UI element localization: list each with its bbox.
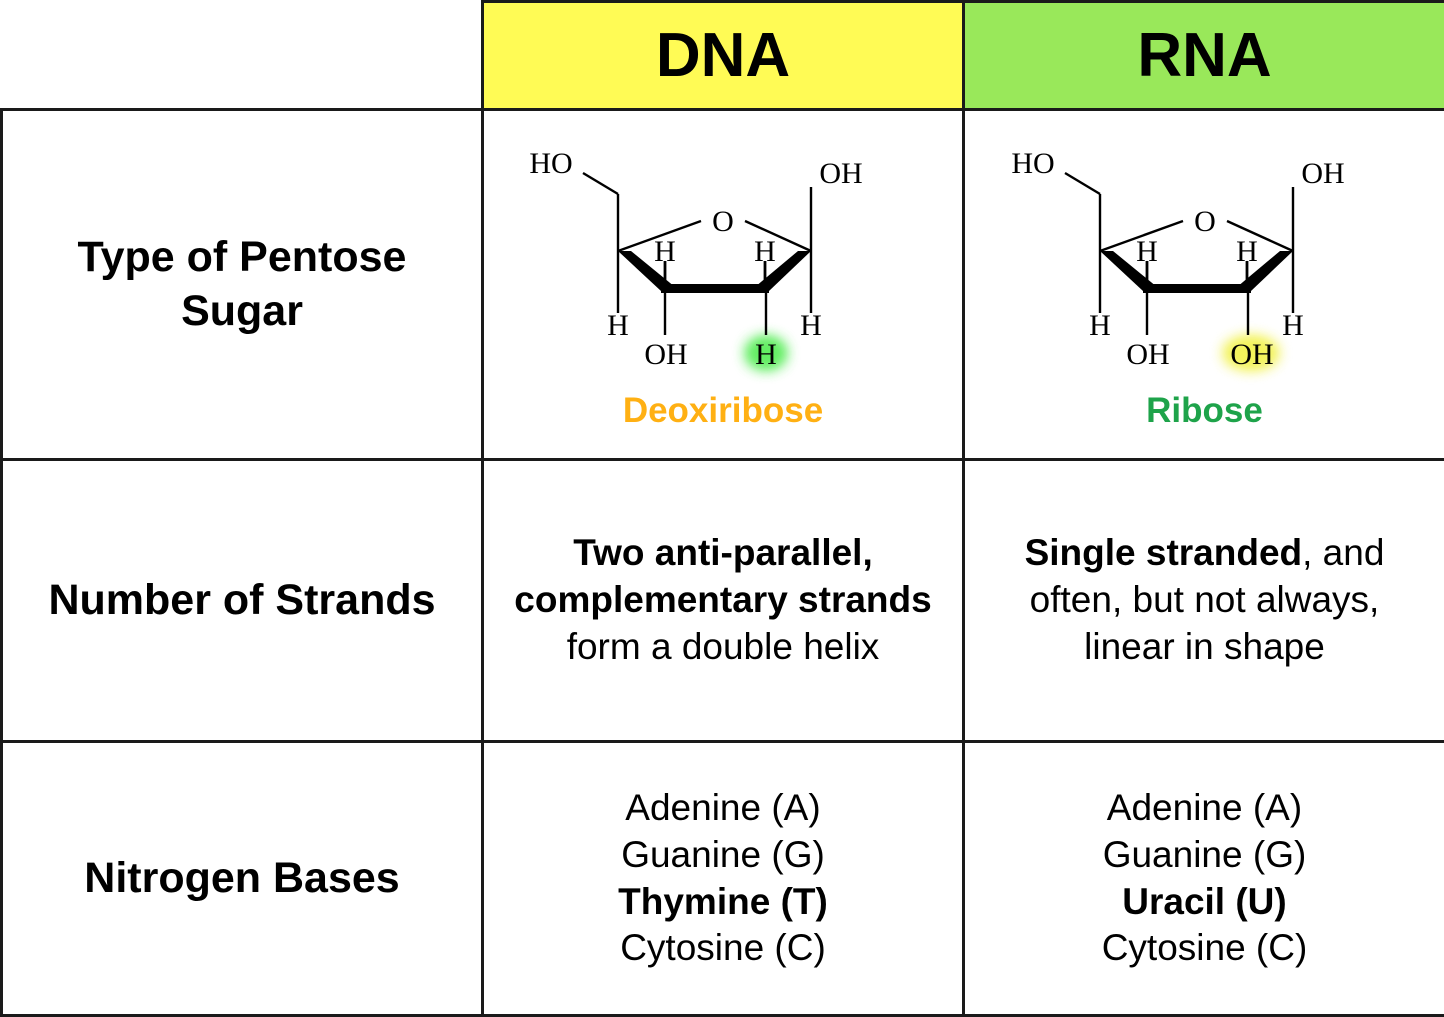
svg-text:OH: OH bbox=[1301, 157, 1344, 190]
dna-base-4: Cytosine (C) bbox=[498, 925, 948, 972]
svg-text:H: H bbox=[800, 309, 822, 342]
svg-text:H: H bbox=[1236, 235, 1258, 268]
rna-base-2: Guanine (G) bbox=[979, 832, 1430, 879]
svg-text:H: H bbox=[654, 235, 676, 268]
deoxiribose-diagram: HO OH O H H H H OH H Deoxiribose bbox=[484, 111, 962, 458]
rna-strands-emphasis: Single stranded bbox=[1025, 532, 1303, 573]
rna-strands-line-1-suffix: , and bbox=[1302, 532, 1384, 573]
column-header-rna: RNA bbox=[964, 2, 1444, 110]
svg-text:H: H bbox=[755, 338, 777, 371]
row-label-number-of-strands: Number of Strands bbox=[2, 460, 483, 742]
svg-text:H: H bbox=[754, 235, 776, 268]
row-label-pentose-sugar: Type of Pentose Sugar bbox=[2, 110, 483, 460]
row-label-nitrogen-bases: Nitrogen Bases bbox=[2, 742, 483, 1016]
ribose-label: Ribose bbox=[1146, 391, 1263, 431]
deoxiribose-structure-icon: HO OH O H H H H OH H bbox=[523, 139, 923, 389]
table-row-number-of-strands: Number of Strands Two anti-parallel, com… bbox=[2, 460, 1444, 742]
rna-base-3: Uracil (U) bbox=[979, 879, 1430, 926]
rna-strands-line-3: linear in shape bbox=[979, 624, 1430, 671]
cell-rna-number-of-strands: Single stranded, and often, but not alwa… bbox=[964, 460, 1444, 742]
rna-base-4: Cytosine (C) bbox=[979, 925, 1430, 972]
dna-strands-line-3: form a double helix bbox=[498, 624, 948, 671]
rna-strands-line-1: Single stranded, and bbox=[979, 530, 1430, 577]
dna-base-3: Thymine (T) bbox=[498, 879, 948, 926]
svg-text:H: H bbox=[1089, 309, 1111, 342]
cell-dna-number-of-strands: Two anti-parallel, complementary strands… bbox=[483, 460, 964, 742]
table-row-nitrogen-bases: Nitrogen Bases Adenine (A) Guanine (G) T… bbox=[2, 742, 1444, 1016]
cell-rna-nitrogen-bases: Adenine (A) Guanine (G) Uracil (U) Cytos… bbox=[964, 742, 1444, 1016]
rna-base-1: Adenine (A) bbox=[979, 785, 1430, 832]
comparison-sheet: DNA RNA Type of Pentose Sugar bbox=[0, 0, 1444, 1014]
svg-text:HO: HO bbox=[1011, 147, 1054, 180]
ribose-structure-icon: HO OH O H H H H OH OH bbox=[1005, 139, 1405, 389]
dna-strands-line-2: complementary strands bbox=[498, 577, 948, 624]
svg-text:OH: OH bbox=[644, 338, 687, 371]
cell-rna-pentose-sugar: HO OH O H H H H OH OH Ribose bbox=[964, 110, 1444, 460]
cell-dna-nitrogen-bases: Adenine (A) Guanine (G) Thymine (T) Cyto… bbox=[483, 742, 964, 1016]
svg-text:O: O bbox=[712, 205, 734, 238]
column-header-dna: DNA bbox=[483, 2, 964, 110]
svg-text:H: H bbox=[607, 309, 629, 342]
corner-cell bbox=[2, 2, 483, 110]
rna-strands-line-2: often, but not always, bbox=[979, 577, 1430, 624]
dna-base-1: Adenine (A) bbox=[498, 785, 948, 832]
deoxiribose-label: Deoxiribose bbox=[623, 391, 823, 431]
svg-text:HO: HO bbox=[529, 147, 572, 180]
table-row-pentose-sugar: Type of Pentose Sugar bbox=[2, 110, 1444, 460]
ribose-diagram: HO OH O H H H H OH OH Ribose bbox=[965, 111, 1444, 458]
svg-text:OH: OH bbox=[819, 157, 862, 190]
svg-text:OH: OH bbox=[1230, 338, 1273, 371]
dna-strands-line-1: Two anti-parallel, bbox=[498, 530, 948, 577]
svg-text:O: O bbox=[1194, 205, 1216, 238]
svg-text:OH: OH bbox=[1126, 338, 1169, 371]
dna-rna-comparison-table: DNA RNA Type of Pentose Sugar bbox=[0, 0, 1444, 1017]
svg-text:H: H bbox=[1282, 309, 1304, 342]
table-header-row: DNA RNA bbox=[2, 2, 1444, 110]
cell-dna-pentose-sugar: HO OH O H H H H OH H Deoxiribose bbox=[483, 110, 964, 460]
dna-base-2: Guanine (G) bbox=[498, 832, 948, 879]
svg-text:H: H bbox=[1136, 235, 1158, 268]
